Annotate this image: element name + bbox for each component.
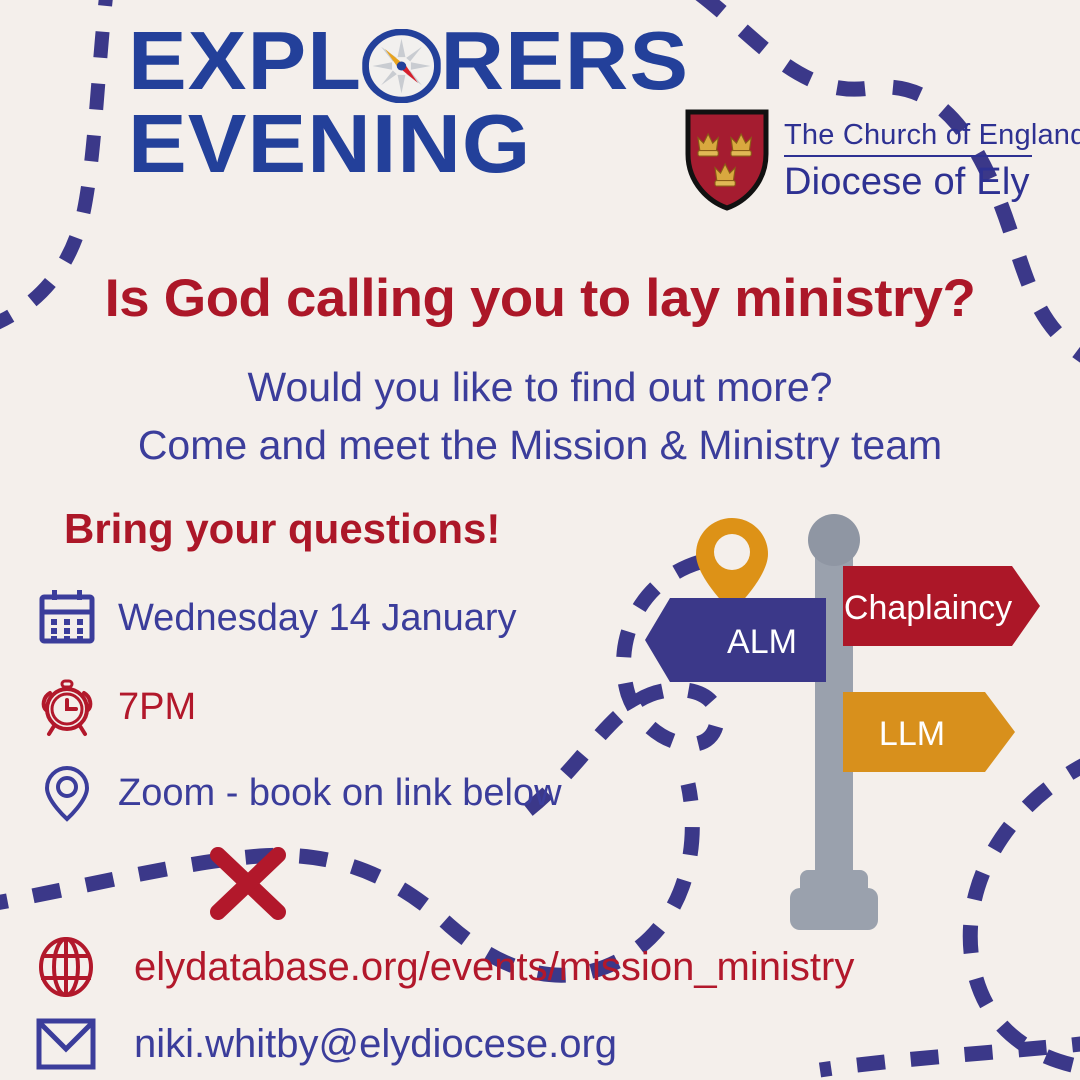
title-text-before: EXPL — [128, 14, 362, 107]
sign-alm: ALM — [645, 598, 826, 682]
ely-shield-icon — [684, 108, 770, 212]
detail-row-location: Zoom - book on link below — [36, 762, 562, 824]
sign-label-alm: ALM — [727, 623, 797, 661]
signpost-illustration: ALM Chaplaincy LLM — [640, 500, 1060, 950]
sign-label-llm: LLM — [879, 715, 945, 753]
alarm-clock-icon — [36, 676, 98, 738]
headline: Is God calling you to lay ministry? — [0, 268, 1080, 329]
title-text-after: RERS — [440, 14, 689, 107]
sign-llm: LLM — [843, 692, 1015, 772]
logo-line-diocese: Diocese of Ely — [784, 157, 1080, 204]
contact-row-email[interactable]: niki.whitby@elydiocese.org — [34, 1016, 617, 1072]
sign-label-chaplaincy: Chaplaincy — [844, 589, 1012, 627]
location-pin-icon — [36, 762, 98, 824]
detail-row-time: 7PM — [36, 676, 196, 738]
poster-title: EXPL RERS EVENING — [128, 20, 728, 184]
website-url[interactable]: elydatabase.org/events/mission_ministry — [134, 945, 854, 990]
detail-label-location: Zoom - book on link below — [118, 772, 562, 815]
title-line-1: EXPL RERS — [128, 20, 764, 103]
call-to-action: Bring your questions! — [64, 505, 500, 553]
poster-canvas: EXPL RERS EVENING — [0, 0, 1080, 1080]
title-line-2: EVENING — [128, 103, 764, 184]
diocese-logo: The Church of England Diocese of Ely — [684, 108, 1080, 212]
globe-icon — [34, 935, 98, 999]
subhead-1: Would you like to find out more? — [0, 364, 1080, 411]
map-pin-icon — [696, 518, 768, 612]
sign-chaplaincy: Chaplaincy — [843, 566, 1040, 646]
calendar-icon — [36, 587, 98, 649]
subhead-2: Come and meet the Mission & Ministry tea… — [0, 422, 1080, 469]
detail-row-date: Wednesday 14 January — [36, 587, 517, 649]
compass-icon — [362, 29, 440, 103]
envelope-icon — [34, 1016, 98, 1072]
detail-label-date: Wednesday 14 January — [118, 597, 517, 640]
logo-line-church-of-england: The Church of England — [784, 119, 1080, 155]
email-address[interactable]: niki.whitby@elydiocese.org — [134, 1022, 617, 1067]
detail-label-time: 7PM — [118, 686, 196, 729]
